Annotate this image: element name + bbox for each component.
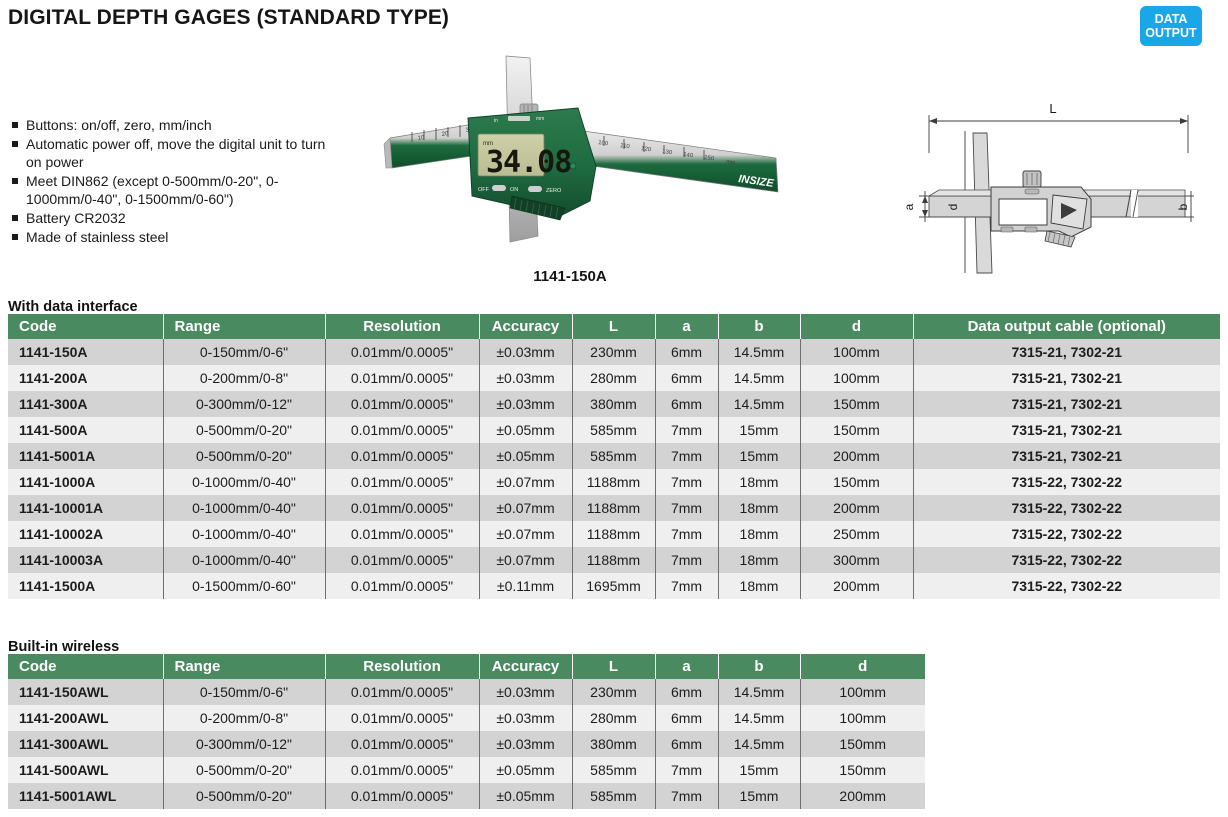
feature-text: Buttons: on/off, zero, mm/inch bbox=[26, 116, 340, 135]
cell-code: 1141-500AWL bbox=[8, 757, 163, 783]
badge-line-1: DATA bbox=[1155, 12, 1188, 26]
column-header-code: Code bbox=[8, 654, 163, 679]
table-cell: 15mm bbox=[718, 757, 800, 783]
table-cell: 1695mm bbox=[572, 573, 655, 599]
column-header-accuracy: Accuracy bbox=[479, 654, 572, 679]
feature-text: Made of stainless steel bbox=[26, 228, 340, 247]
table-cell: ±0.03mm bbox=[479, 391, 572, 417]
table-cell: 0-200mm/0-8" bbox=[163, 705, 325, 731]
data-interface-table: Code Range Resolution Accuracy L a b d D… bbox=[8, 314, 1220, 599]
dimension-label-L: L bbox=[1049, 101, 1056, 116]
table-cell: 100mm bbox=[800, 339, 913, 365]
table-cell: 150mm bbox=[800, 417, 913, 443]
column-header-resolution: Resolution bbox=[325, 654, 479, 679]
feature-item: Battery CR2032 bbox=[10, 209, 340, 228]
table-cell: ±0.07mm bbox=[479, 469, 572, 495]
table-cell: 7mm bbox=[655, 495, 718, 521]
table-cell: 0.01mm/0.0005" bbox=[325, 679, 479, 705]
table-cell: 0.01mm/0.0005" bbox=[325, 547, 479, 573]
table-cell: 14.5mm bbox=[718, 339, 800, 365]
bullet-square-icon bbox=[12, 178, 18, 184]
bullet-square-icon bbox=[12, 215, 18, 221]
feature-item: Meet DIN862 (except 0-500mm/0-20", 0-100… bbox=[10, 172, 340, 209]
table-cell: 0-500mm/0-20" bbox=[163, 417, 325, 443]
table-header-row: Code Range Resolution Accuracy L a b d bbox=[8, 654, 925, 679]
cell-code: 1141-10001A bbox=[8, 495, 163, 521]
depth-gage-illustration: 10 20 30 100 110 120 130 140 150 mm INSI… bbox=[360, 46, 780, 271]
dimension-label-a: a bbox=[902, 203, 916, 210]
table-cell: 200mm bbox=[800, 783, 925, 809]
table-cell: 200mm bbox=[800, 573, 913, 599]
table-cell: ±0.03mm bbox=[479, 365, 572, 391]
table-cell: ±0.05mm bbox=[479, 417, 572, 443]
table-cell: 585mm bbox=[572, 417, 655, 443]
status-indicator bbox=[570, 163, 576, 169]
table-cell: 230mm bbox=[572, 339, 655, 365]
table-cell: 0.01mm/0.0005" bbox=[325, 365, 479, 391]
table-cell: 6mm bbox=[655, 679, 718, 705]
wireless-table-body: 1141-150AWL0-150mm/0-6"0.01mm/0.0005"±0.… bbox=[8, 679, 925, 809]
table-cell: 150mm bbox=[800, 469, 913, 495]
column-header-d: d bbox=[800, 314, 913, 339]
column-header-resolution: Resolution bbox=[325, 314, 479, 339]
off-button-label: OFF bbox=[478, 187, 490, 193]
table-cell: 7mm bbox=[655, 783, 718, 809]
table-cell: 585mm bbox=[572, 783, 655, 809]
datasheet-page: DIGITAL DEPTH GAGES (STANDARD TYPE) DATA… bbox=[0, 0, 1228, 817]
table-row: 1141-1500A0-1500mm/0-60"0.01mm/0.0005"±0… bbox=[8, 573, 1220, 599]
table-cell: 1188mm bbox=[572, 521, 655, 547]
table-cell: 7315-21, 7302-21 bbox=[913, 443, 1220, 469]
table-cell: ±0.03mm bbox=[479, 731, 572, 757]
dimension-diagram: L a d b bbox=[895, 95, 1195, 275]
table-cell: 0-1500mm/0-60" bbox=[163, 573, 325, 599]
table-cell: 0.01mm/0.0005" bbox=[325, 469, 479, 495]
dimension-label-d: d bbox=[946, 204, 960, 211]
table-cell: 7315-21, 7302-21 bbox=[913, 417, 1220, 443]
table-cell: 7315-22, 7302-22 bbox=[913, 547, 1220, 573]
table-cell: 7315-21, 7302-21 bbox=[913, 339, 1220, 365]
table-cell: 585mm bbox=[572, 757, 655, 783]
table-header-row: Code Range Resolution Accuracy L a b d D… bbox=[8, 314, 1220, 339]
table-row: 1141-10002A0-1000mm/0-40"0.01mm/0.0005"±… bbox=[8, 521, 1220, 547]
table-cell: 14.5mm bbox=[718, 705, 800, 731]
table-cell: 100mm bbox=[800, 679, 925, 705]
table-cell: ±0.05mm bbox=[479, 757, 572, 783]
table-cell: 14.5mm bbox=[718, 731, 800, 757]
column-header-l: L bbox=[572, 654, 655, 679]
table-cell: 0-1000mm/0-40" bbox=[163, 547, 325, 573]
cell-code: 1141-200AWL bbox=[8, 705, 163, 731]
product-photo: 10 20 30 100 110 120 130 140 150 mm INSI… bbox=[360, 46, 780, 271]
table-cell: 0.01mm/0.0005" bbox=[325, 417, 479, 443]
table-cell: 0.01mm/0.0005" bbox=[325, 495, 479, 521]
column-header-l: L bbox=[572, 314, 655, 339]
table-cell: 0-200mm/0-8" bbox=[163, 365, 325, 391]
feature-text: Meet DIN862 (except 0-500mm/0-20", 0-100… bbox=[26, 172, 340, 209]
table-row: 1141-300A0-300mm/0-12"0.01mm/0.0005"±0.0… bbox=[8, 391, 1220, 417]
technical-drawing: L a d b bbox=[895, 95, 1195, 275]
table-cell: 150mm bbox=[800, 731, 925, 757]
table-cell: 7315-22, 7302-22 bbox=[913, 521, 1220, 547]
table-cell: 7315-22, 7302-22 bbox=[913, 495, 1220, 521]
table-cell: 0-300mm/0-12" bbox=[163, 391, 325, 417]
data-output-badge: DATA OUTPUT bbox=[1140, 6, 1202, 46]
table-cell: ±0.07mm bbox=[479, 547, 572, 573]
column-header-range: Range bbox=[163, 654, 325, 679]
section-label-wireless: Built-in wireless bbox=[8, 639, 119, 655]
table-row: 1141-5001AWL0-500mm/0-20"0.01mm/0.0005"±… bbox=[8, 783, 925, 809]
table-cell: 7315-22, 7302-22 bbox=[913, 469, 1220, 495]
table-cell: 585mm bbox=[572, 443, 655, 469]
section-label-data-interface: With data interface bbox=[8, 299, 138, 315]
cell-code: 1141-10003A bbox=[8, 547, 163, 573]
power-button bbox=[492, 185, 506, 191]
table-row: 1141-500A0-500mm/0-20"0.01mm/0.0005"±0.0… bbox=[8, 417, 1220, 443]
cell-code: 1141-5001AWL bbox=[8, 783, 163, 809]
cell-code: 1141-150A bbox=[8, 339, 163, 365]
table-cell: 18mm bbox=[718, 495, 800, 521]
data-interface-table-body: 1141-150A0-150mm/0-6"0.01mm/0.0005"±0.03… bbox=[8, 339, 1220, 599]
cell-code: 1141-5001A bbox=[8, 443, 163, 469]
cell-code: 1141-10002A bbox=[8, 521, 163, 547]
table-cell: 14.5mm bbox=[718, 391, 800, 417]
table-cell: 7315-21, 7302-21 bbox=[913, 365, 1220, 391]
feature-item: Buttons: on/off, zero, mm/inch bbox=[10, 116, 340, 135]
table-row: 1141-500AWL0-500mm/0-20"0.01mm/0.0005"±0… bbox=[8, 757, 925, 783]
column-header-code: Code bbox=[8, 314, 163, 339]
table-cell: ±0.07mm bbox=[479, 495, 572, 521]
lcd-reading: 34.08 bbox=[486, 145, 571, 180]
table-cell: ±0.03mm bbox=[479, 705, 572, 731]
column-header-b: b bbox=[718, 654, 800, 679]
table-cell: 0-500mm/0-20" bbox=[163, 443, 325, 469]
table-cell: 6mm bbox=[655, 365, 718, 391]
page-title: DIGITAL DEPTH GAGES (STANDARD TYPE) bbox=[8, 6, 449, 30]
table-cell: 150mm bbox=[800, 391, 913, 417]
table-row: 1141-1000A0-1000mm/0-40"0.01mm/0.0005"±0… bbox=[8, 469, 1220, 495]
table-row: 1141-200A0-200mm/0-8"0.01mm/0.0005"±0.03… bbox=[8, 365, 1220, 391]
table-cell: 15mm bbox=[718, 443, 800, 469]
table-cell: 230mm bbox=[572, 679, 655, 705]
feature-text: Automatic power off, move the digital un… bbox=[26, 135, 340, 172]
table-cell: 200mm bbox=[800, 495, 913, 521]
table-cell: 280mm bbox=[572, 365, 655, 391]
unit-top-label: in bbox=[494, 118, 498, 124]
table-cell: ±0.07mm bbox=[479, 521, 572, 547]
table-cell: ±0.11mm bbox=[479, 573, 572, 599]
table-cell: 0.01mm/0.0005" bbox=[325, 391, 479, 417]
table-cell: ±0.03mm bbox=[479, 339, 572, 365]
table-row: 1141-10003A0-1000mm/0-40"0.01mm/0.0005"±… bbox=[8, 547, 1220, 573]
table-cell: 18mm bbox=[718, 469, 800, 495]
table-cell: 100mm bbox=[800, 705, 925, 731]
cell-code: 1141-200A bbox=[8, 365, 163, 391]
table-cell: 7315-22, 7302-22 bbox=[913, 573, 1220, 599]
table-cell: 1188mm bbox=[572, 547, 655, 573]
zero-button-label: ZERO bbox=[546, 188, 562, 194]
bullet-square-icon bbox=[12, 141, 18, 147]
column-header-a: a bbox=[655, 314, 718, 339]
cell-code: 1141-150AWL bbox=[8, 679, 163, 705]
table-cell: 7mm bbox=[655, 521, 718, 547]
table-cell: 200mm bbox=[800, 443, 913, 469]
feature-item: Automatic power off, move the digital un… bbox=[10, 135, 340, 172]
wireless-table: Code Range Resolution Accuracy L a b d 1… bbox=[8, 654, 925, 809]
table-cell: 0-150mm/0-6" bbox=[163, 339, 325, 365]
table-row: 1141-150A0-150mm/0-6"0.01mm/0.0005"±0.03… bbox=[8, 339, 1220, 365]
table-cell: 0-1000mm/0-40" bbox=[163, 469, 325, 495]
table-cell: 0.01mm/0.0005" bbox=[325, 573, 479, 599]
bullet-square-icon bbox=[12, 122, 18, 128]
table-cell: 6mm bbox=[655, 731, 718, 757]
column-header-cable: Data output cable (optional) bbox=[913, 314, 1220, 339]
table-cell: 0.01mm/0.0005" bbox=[325, 783, 479, 809]
table-cell: 14.5mm bbox=[718, 365, 800, 391]
dimension-label-b: b bbox=[1176, 203, 1190, 210]
cell-code: 1141-500A bbox=[8, 417, 163, 443]
table-cell: 7mm bbox=[655, 757, 718, 783]
table-cell: 0-1000mm/0-40" bbox=[163, 495, 325, 521]
table-cell: 7mm bbox=[655, 547, 718, 573]
cell-code: 1141-300AWL bbox=[8, 731, 163, 757]
table-cell: 1188mm bbox=[572, 495, 655, 521]
table-cell: 15mm bbox=[718, 417, 800, 443]
feature-list: Buttons: on/off, zero, mm/inch Automatic… bbox=[10, 116, 340, 246]
table-cell: 0.01mm/0.0005" bbox=[325, 443, 479, 469]
table-cell: 100mm bbox=[800, 365, 913, 391]
table-row: 1141-300AWL0-300mm/0-12"0.01mm/0.0005"±0… bbox=[8, 731, 925, 757]
table-cell: 18mm bbox=[718, 547, 800, 573]
badge-line-2: OUTPUT bbox=[1145, 26, 1196, 40]
table-cell: 18mm bbox=[718, 573, 800, 599]
table-cell: 1188mm bbox=[572, 469, 655, 495]
table-cell: 300mm bbox=[800, 547, 913, 573]
column-header-accuracy: Accuracy bbox=[479, 314, 572, 339]
table-cell: 0-500mm/0-20" bbox=[163, 757, 325, 783]
feature-item: Made of stainless steel bbox=[10, 228, 340, 247]
table-row: 1141-5001A0-500mm/0-20"0.01mm/0.0005"±0.… bbox=[8, 443, 1220, 469]
table-cell: ±0.03mm bbox=[479, 679, 572, 705]
column-header-range: Range bbox=[163, 314, 325, 339]
table-cell: 7mm bbox=[655, 443, 718, 469]
column-header-a: a bbox=[655, 654, 718, 679]
table-cell: 7mm bbox=[655, 417, 718, 443]
table-cell: 7mm bbox=[655, 469, 718, 495]
cell-code: 1141-1000A bbox=[8, 469, 163, 495]
table-cell: 0-500mm/0-20" bbox=[163, 783, 325, 809]
zero-button bbox=[528, 186, 542, 192]
table-row: 1141-150AWL0-150mm/0-6"0.01mm/0.0005"±0.… bbox=[8, 679, 925, 705]
table-cell: 380mm bbox=[572, 391, 655, 417]
table-cell: 14.5mm bbox=[718, 679, 800, 705]
table-cell: 0.01mm/0.0005" bbox=[325, 521, 479, 547]
table-cell: 0.01mm/0.0005" bbox=[325, 731, 479, 757]
column-header-b: b bbox=[718, 314, 800, 339]
table-cell: 0-1000mm/0-40" bbox=[163, 521, 325, 547]
table-cell: 7315-21, 7302-21 bbox=[913, 391, 1220, 417]
table-cell: 0-300mm/0-12" bbox=[163, 731, 325, 757]
table-cell: 0.01mm/0.0005" bbox=[325, 757, 479, 783]
table-cell: 0.01mm/0.0005" bbox=[325, 339, 479, 365]
table-row: 1141-10001A0-1000mm/0-40"0.01mm/0.0005"±… bbox=[8, 495, 1220, 521]
table-row: 1141-200AWL0-200mm/0-8"0.01mm/0.0005"±0.… bbox=[8, 705, 925, 731]
table-cell: 280mm bbox=[572, 705, 655, 731]
table-cell: 15mm bbox=[718, 783, 800, 809]
bullet-square-icon bbox=[12, 234, 18, 240]
table-cell: 0.01mm/0.0005" bbox=[325, 705, 479, 731]
column-header-d: d bbox=[800, 654, 925, 679]
product-photo-caption: 1141-150A bbox=[360, 268, 780, 285]
table-cell: 6mm bbox=[655, 339, 718, 365]
table-cell: 0-150mm/0-6" bbox=[163, 679, 325, 705]
table-cell: ±0.05mm bbox=[479, 783, 572, 809]
table-cell: 150mm bbox=[800, 757, 925, 783]
unit-top-label-mm: mm bbox=[536, 116, 544, 122]
table-cell: 250mm bbox=[800, 521, 913, 547]
table-cell: 380mm bbox=[572, 731, 655, 757]
cell-code: 1141-1500A bbox=[8, 573, 163, 599]
cell-code: 1141-300A bbox=[8, 391, 163, 417]
table-cell: ±0.05mm bbox=[479, 443, 572, 469]
table-cell: 7mm bbox=[655, 573, 718, 599]
on-button-label: ON bbox=[510, 187, 518, 193]
table-cell: 6mm bbox=[655, 391, 718, 417]
feature-text: Battery CR2032 bbox=[26, 209, 340, 228]
table-cell: 18mm bbox=[718, 521, 800, 547]
table-cell: 6mm bbox=[655, 705, 718, 731]
